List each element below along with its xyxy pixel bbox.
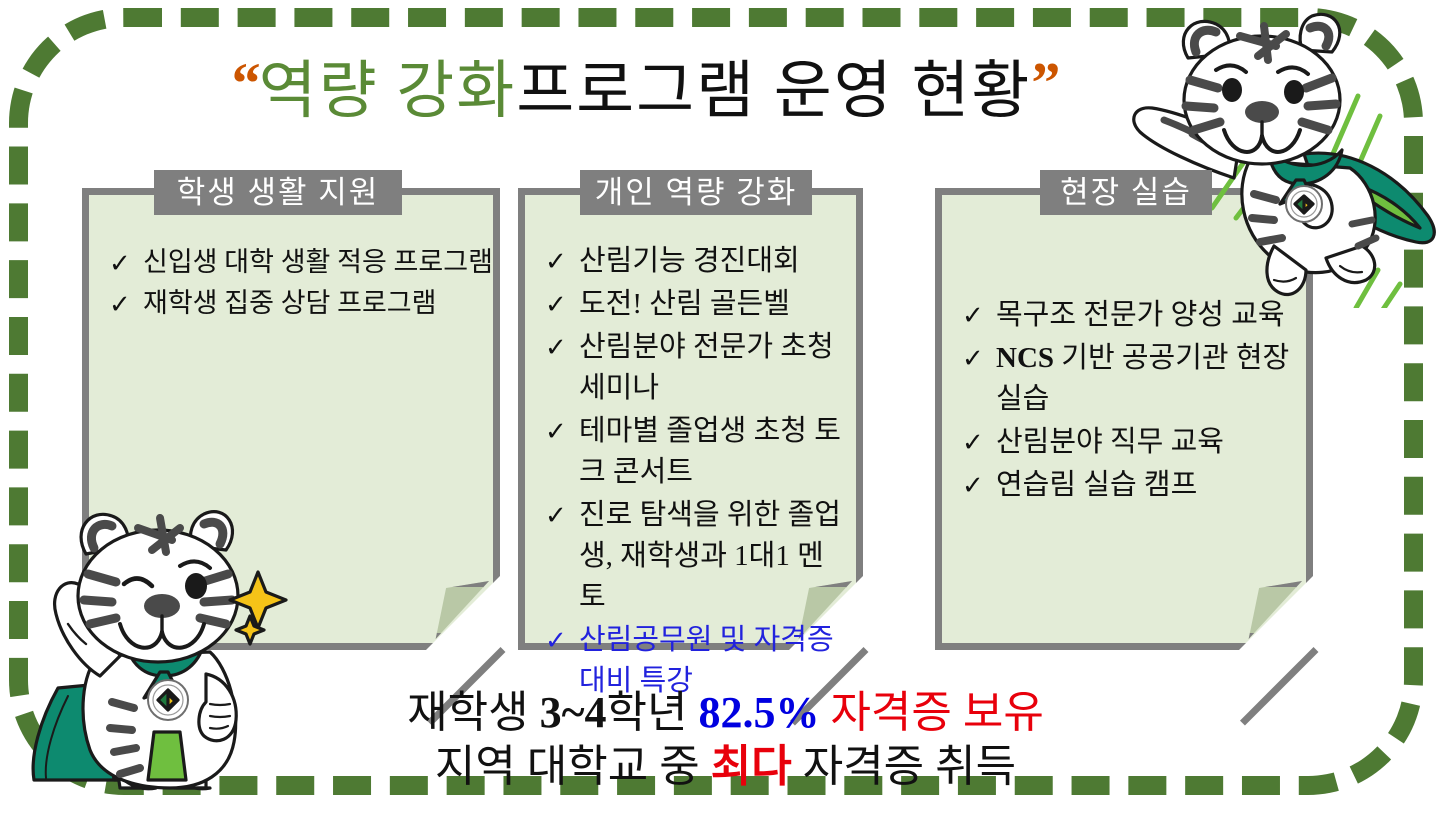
summary-l2-p3: 자격증 취득 xyxy=(792,742,1016,791)
list-item: ✓ 테마별 졸업생 초청 토크 콘서트 xyxy=(543,411,846,493)
check-icon: ✓ xyxy=(109,284,131,325)
list-item: ✓ 도전! 산림 골든벨 xyxy=(543,284,846,325)
list-item: ✓ 재학생 집중 상담 프로그램 xyxy=(107,284,483,323)
summary-l1-cert: 자격증 보유 xyxy=(819,688,1043,737)
check-icon: ✓ xyxy=(962,422,984,463)
title-highlight: 역량 강화 xyxy=(259,56,517,126)
list-item: ✓ 진로 탐색을 위한 졸업생, 재학생과 1대1 멘토 xyxy=(543,495,846,618)
quote-open-icon: “ xyxy=(232,51,259,116)
list-item-label: 산림기능 경진대회 xyxy=(579,245,800,277)
check-icon: ✓ xyxy=(109,243,131,284)
list-item-label: 테마별 졸업생 초청 토크 콘서트 xyxy=(579,415,841,488)
list-item: ✓ 산림분야 전문가 초청 세미나 xyxy=(543,327,846,409)
summary-l2-most: 최다 xyxy=(711,742,792,791)
check-icon: ✓ xyxy=(545,620,567,661)
slide-canvas: “역량 강화프로그램 운영 현황” ✓ 신입생 대학 생활 적응 프로그램 ✓ … xyxy=(0,0,1451,814)
card-banner-student-life: 학생 생활 지원 xyxy=(154,170,402,215)
list-item-label: NCS 기반 공공기관 현장 실습 xyxy=(996,342,1289,415)
check-icon: ✓ xyxy=(962,295,984,336)
list-item-label: 산림분야 직무 교육 xyxy=(996,426,1224,458)
page-title: “역량 강화프로그램 운영 현황” xyxy=(0,40,1290,131)
program-card-individual-capacity[interactable]: ✓ 산림기능 경진대회 ✓ 도전! 산림 골든벨 ✓ 산림분야 전문가 초청 세… xyxy=(518,188,863,650)
list-item: ✓ 산림기능 경진대회 xyxy=(543,241,846,282)
check-icon: ✓ xyxy=(545,327,567,368)
program-list: ✓ 목구조 전문가 양성 교육 ✓ NCS 기반 공공기관 현장 실습 ✓ 산림… xyxy=(960,295,1296,508)
program-list: ✓ 산림기능 경진대회 ✓ 도전! 산림 골든벨 ✓ 산림분야 전문가 초청 세… xyxy=(543,241,846,704)
summary-l1-grade: 3~4 xyxy=(540,688,607,737)
list-item: ✓ 연습림 실습 캠프 xyxy=(960,465,1296,506)
list-item: ✓ NCS 기반 공공기관 현장 실습 xyxy=(960,338,1296,420)
title-rest: 프로그램 운영 현황 xyxy=(516,56,1031,126)
check-icon: ✓ xyxy=(962,465,984,506)
tiger-mascot-flying xyxy=(1128,8,1451,308)
tiger-mascot-pointing xyxy=(20,488,330,808)
summary-l1-p1: 재학생 xyxy=(407,688,539,737)
list-item-label: 진로 탐색을 위한 졸업생, 재학생과 1대1 멘토 xyxy=(579,499,841,613)
check-icon: ✓ xyxy=(545,284,567,325)
summary-l2-p1: 지역 대학교 중 xyxy=(435,742,711,791)
check-icon: ✓ xyxy=(545,241,567,282)
check-icon: ✓ xyxy=(545,495,567,536)
card-banner-individual-capacity: 개인 역량 강화 xyxy=(580,170,812,215)
list-item-label: 산림분야 전문가 초청 세미나 xyxy=(579,331,834,404)
quote-close-icon: ” xyxy=(1031,51,1058,116)
list-item-label: 신입생 대학 생활 적응 프로그램 xyxy=(143,247,493,277)
list-item-label: 도전! 산림 골든벨 xyxy=(579,288,790,320)
check-icon: ✓ xyxy=(962,338,984,379)
card-banner-field-practice: 현장 실습 xyxy=(1040,170,1212,215)
list-item: ✓ 신입생 대학 생활 적응 프로그램 xyxy=(107,243,483,282)
summary-l1-p3: 학년 xyxy=(606,688,698,737)
list-item-label: 연습림 실습 캠프 xyxy=(996,469,1197,501)
list-item: ✓ 산림분야 직무 교육 xyxy=(960,422,1296,463)
check-icon: ✓ xyxy=(545,411,567,452)
summary-l1-percent: 82.5% xyxy=(698,688,819,737)
list-item-label: 재학생 집중 상담 프로그램 xyxy=(143,288,437,318)
program-list: ✓ 신입생 대학 생활 적응 프로그램 ✓ 재학생 집중 상담 프로그램 xyxy=(107,243,483,325)
